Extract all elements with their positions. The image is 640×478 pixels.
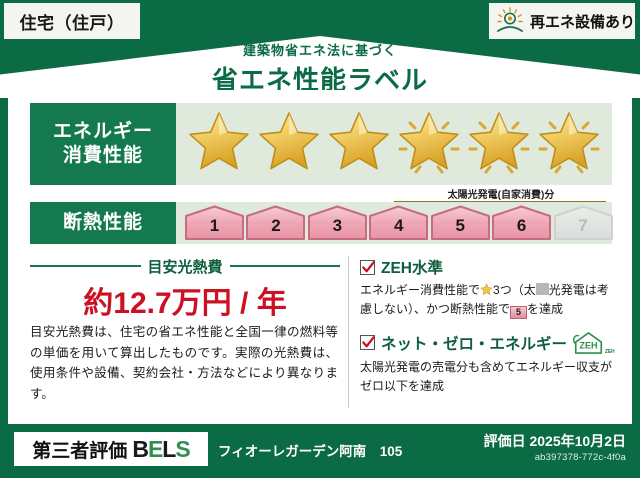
bels-letter-s: S [175,436,189,462]
insulation-level-achieved: 2 [245,205,300,241]
vertical-divider [348,256,349,408]
renewable-badge-label: 再エネ設備あり [530,11,635,32]
bels-letter-l: L [162,436,175,462]
star-icon-solar [394,109,464,179]
inline-insulation-badge: 5 [510,306,527,319]
zeh-standard-text-a: エネルギー消費性能で [360,283,480,297]
zeh-standard-text: エネルギー消費性能で3つ（太光発電は考慮しない）、かつ断熱性能で5を達成 [360,281,618,320]
energy-tag-line2: 消費性能 [63,145,143,166]
zeh-standard-text-d: を達成 [527,302,563,316]
bels-logo: BELS [132,436,189,463]
cost-rule-right [230,265,341,267]
building-type-badge: 住宅（住戸） [4,3,140,39]
net-zero-title: ネット・ゼロ・エネルギー [381,332,567,354]
bels-japanese-label: 第三者評価 [32,436,127,463]
inline-star-icon [480,283,493,296]
zeh-criteria-block: ZEH水準 エネルギー消費性能で3つ（太光発電は考慮しない）、かつ断熱性能で5を… [360,256,618,397]
zeh-standard-text-b: 3つ（太 [493,283,536,297]
insulation-level-inactive: 7 [553,205,608,241]
insulation-level-achieved: 6 [491,205,546,241]
insulation-level-scale: 1 2 3 [184,204,608,242]
checkmark-icon [360,335,375,350]
insulation-level-number: 1 [184,216,245,236]
star-icon-filled [254,109,324,179]
zeh-logo-subtext: ZEH [605,349,614,355]
cost-heading-row: 目安光熱費 [30,258,340,274]
insulation-level-achieved: 5 [430,205,485,241]
bels-letter-e: E [148,436,162,462]
evaluation-date: 評価日 2025年10月2日 [484,431,626,451]
insulation-level-achieved: 4 [368,205,423,241]
checkmark-icon [360,260,375,275]
star-icon-filled [184,109,254,179]
star-icon-filled [324,109,394,179]
insulation-level-number: 2 [245,216,306,236]
net-zero-energy-item: ネット・ゼロ・エネルギー ZEH ZEH 太陽光発電の売電分も含めてエネルギー収… [360,331,618,397]
zeh-standard-header: ZEH水準 [360,256,618,278]
insulation-level-number: 4 [368,216,429,236]
insulation-level-achieved: 1 [184,205,239,241]
redaction-block [536,283,549,295]
label-footer: 第三者評価 BELS フィオーレガーデン阿南 105 評価日 2025年10月2… [0,424,640,478]
insulation-level-achieved: 3 [307,205,362,241]
cost-heading: 目安光熱費 [148,256,223,277]
evaluation-id: ab397378-772c-4f0a [484,452,626,463]
evaluation-info: 評価日 2025年10月2日 ab397378-772c-4f0a [484,431,626,463]
building-type-badge-label: 住宅（住戸） [20,9,125,34]
title-chevron-background [0,36,640,98]
insulation-level-number: 3 [307,216,368,236]
insulation-level-number: 6 [491,216,552,236]
bels-badge: 第三者評価 BELS [14,432,208,466]
energy-star-rating [184,106,608,182]
building-name: フィオーレガーデン阿南 105 [218,440,402,460]
cost-description: 目安光熱費は、住宅の省エネ性能と全国一律の燃料等の単価を用いて算出したものです。… [30,322,338,405]
net-zero-text: 太陽光発電の売電分も含めてエネルギー収支がゼロ以下を達成 [360,358,618,397]
sun-renewable-icon [495,7,525,35]
bels-letter-b: B [132,436,148,462]
insulation-tag-text: 断熱性能 [63,211,143,235]
insulation-performance-tag: 断熱性能 [30,202,176,244]
energy-tag-text: エネルギー 消費性能 [53,120,153,168]
solar-annotation-label: 太陽光発電(自家消費)分 [380,186,622,201]
zeh-standard-title: ZEH水準 [381,256,443,278]
zeh-house-logo: ZEH ZEH [573,331,614,355]
energy-performance-label: 住宅（住戸） 再エネ設備あり 建築物省エネ法に基づく [0,0,640,478]
energy-performance-tag: エネルギー 消費性能 [30,103,176,185]
cost-value: 約12.7万円 / 年 [30,278,340,322]
svg-text:ZEH: ZEH [579,340,597,350]
insulation-level-number: 5 [430,216,491,236]
star-icon-solar [464,109,534,179]
star-icon-solar [534,109,604,179]
renewable-equipment-badge: 再エネ設備あり [489,3,635,39]
zeh-standard-item: ZEH水準 エネルギー消費性能で3つ（太光発電は考慮しない）、かつ断熱性能で5を… [360,256,618,320]
insulation-level-number: 7 [553,216,614,236]
cost-rule-left [30,265,141,267]
net-zero-header: ネット・ゼロ・エネルギー ZEH ZEH [360,331,618,355]
energy-tag-line1: エネルギー [53,121,153,142]
label-card: エネルギー 消費性能 [8,90,632,424]
